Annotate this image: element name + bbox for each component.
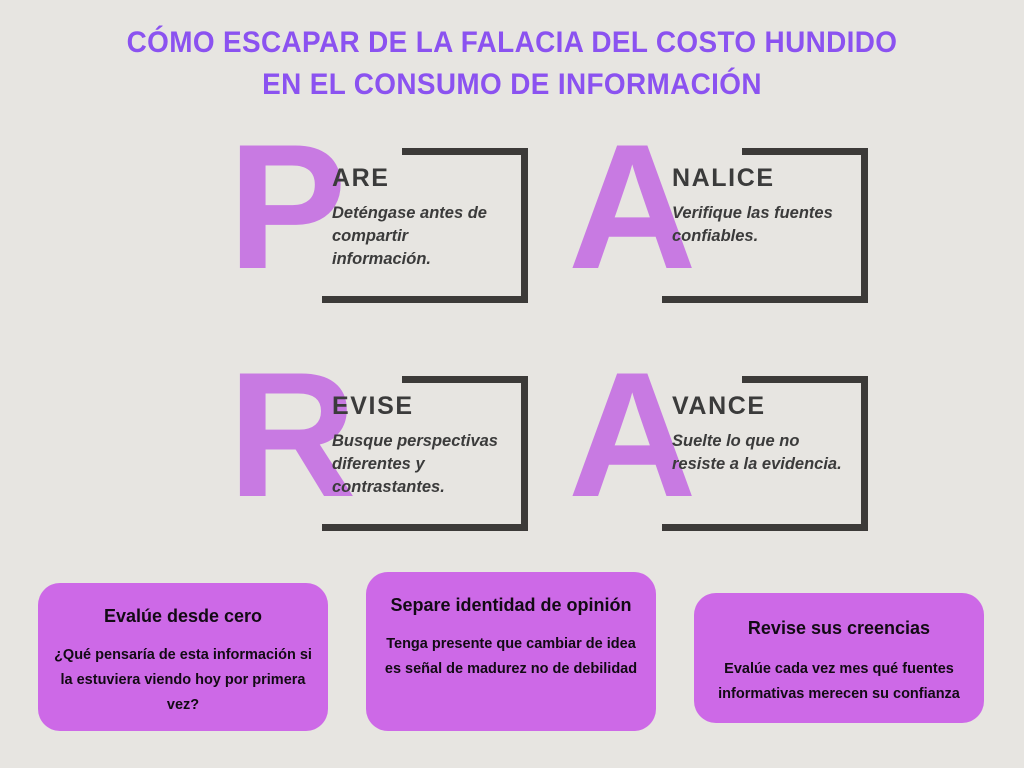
bracket-top-bar — [402, 148, 528, 155]
tip-card-revise-creencias: Revise sus creencias Evalúe cada vez mes… — [694, 593, 984, 723]
para-block-pare: P ARE Deténgase antes de compartir infor… — [228, 140, 568, 325]
acronym-word: VANCE — [672, 392, 766, 421]
tip-card-separe-identidad: Separe identidad de opinión Tenga presen… — [366, 572, 656, 731]
acronym-initial-letter: P — [228, 118, 338, 296]
tip-card-row: Evalúe desde cero ¿Qué pensaría de esta … — [0, 578, 1024, 738]
tip-card-body: Evalúe cada vez mes qué fuentes informat… — [708, 657, 970, 707]
acronym-initial-letter: A — [568, 118, 678, 296]
tip-card-body: ¿Qué pensaría de esta información si la … — [52, 643, 314, 718]
acronym-description: Busque perspectivas diferentes y contras… — [332, 430, 508, 499]
acronym-initial-letter: R — [228, 346, 338, 524]
acronym-description: Verifique las fuentes confiables. — [672, 202, 848, 248]
bracket-bottom-bar — [322, 296, 528, 303]
page-title-line-1: CÓMO ESCAPAR DE LA FALACIA DEL COSTO HUN… — [36, 22, 988, 64]
acronym-initial-letter: A — [568, 346, 678, 524]
bracket-right-rail — [861, 148, 868, 303]
tip-card-title: Revise sus creencias — [708, 615, 970, 641]
bracket-right-rail — [521, 376, 528, 531]
tip-card-title: Separe identidad de opinión — [380, 592, 642, 618]
para-block-avance: A VANCE Suelte lo que no resiste a la ev… — [568, 368, 908, 553]
para-acronym-grid: P ARE Deténgase antes de compartir infor… — [0, 140, 1024, 540]
tip-card-title: Evalúe desde cero — [52, 603, 314, 629]
para-block-revise: R EVISE Busque perspectivas diferentes y… — [228, 368, 568, 553]
acronym-word: ARE — [332, 164, 390, 193]
acronym-word: EVISE — [332, 392, 414, 421]
bracket-top-bar — [742, 148, 868, 155]
para-block-analice: A NALICE Verifique las fuentes confiable… — [568, 140, 908, 325]
page-title-line-2: EN EL CONSUMO DE INFORMACIÓN — [36, 64, 988, 106]
acronym-description: Suelte lo que no resiste a la evidencia. — [672, 430, 848, 476]
bracket-top-bar — [402, 376, 528, 383]
acronym-word: NALICE — [672, 164, 775, 193]
bracket-right-rail — [861, 376, 868, 531]
bracket-right-rail — [521, 148, 528, 303]
page-title: CÓMO ESCAPAR DE LA FALACIA DEL COSTO HUN… — [36, 22, 988, 106]
tip-card-body: Tenga presente que cambiar de idea es se… — [380, 632, 642, 682]
acronym-description: Deténgase antes de compartir información… — [332, 202, 508, 271]
tip-card-evalue-desde-cero: Evalúe desde cero ¿Qué pensaría de esta … — [38, 583, 328, 731]
bracket-top-bar — [742, 376, 868, 383]
